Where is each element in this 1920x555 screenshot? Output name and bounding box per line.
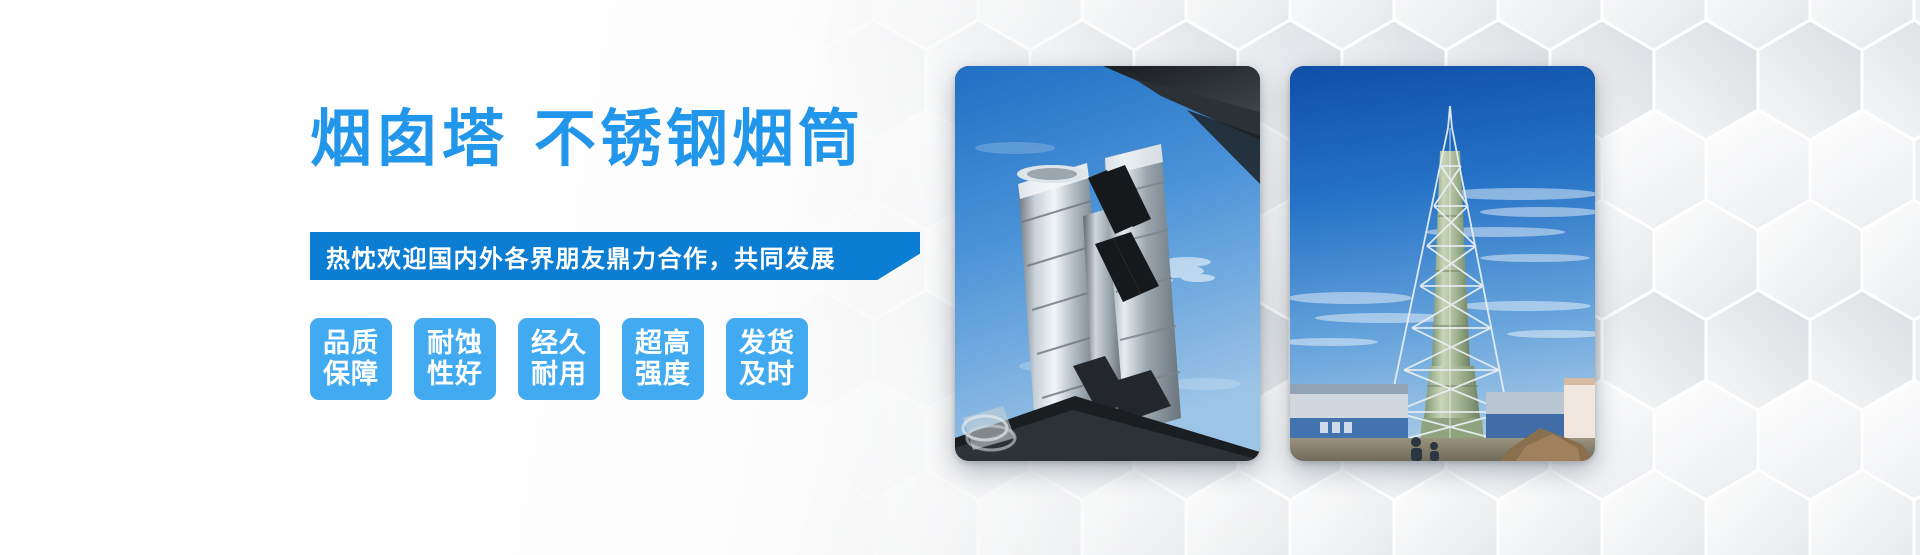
badge-line-1: 发货 [739,328,795,359]
badge-line-2: 保障 [323,359,379,390]
badge-line-1: 品质 [323,328,379,359]
headline-part-1: 烟囱塔 [310,102,508,175]
feature-badge-fast-delivery[interactable]: 发货 及时 [726,318,808,400]
banner-copy: 烟囱塔不锈钢烟筒 热忱欢迎国内外各界朋友鼎力合作，共同发展 品质 保障 耐蚀 性… [0,0,980,555]
badge-line-1: 耐蚀 [427,328,483,359]
badge-line-2: 性好 [427,359,483,390]
product-photo-stainless-steel-chimney[interactable] [955,66,1260,461]
feature-badge-corrosion-resistance[interactable]: 耐蚀 性好 [414,318,496,400]
badge-line-1: 超高 [635,328,691,359]
promo-banner: 烟囱塔不锈钢烟筒 热忱欢迎国内外各界朋友鼎力合作，共同发展 品质 保障 耐蚀 性… [0,0,1920,555]
product-photo-gallery [955,0,1655,555]
badge-line-1: 经久 [531,328,587,359]
product-photo-lattice-tower-chimney[interactable] [1290,66,1595,461]
tagline-text: 热忱欢迎国内外各界朋友鼎力合作，共同发展 [326,239,836,274]
tagline-ribbon: 热忱欢迎国内外各界朋友鼎力合作，共同发展 [310,232,920,280]
badge-line-2: 耐用 [531,359,587,390]
feature-badge-list: 品质 保障 耐蚀 性好 经久 耐用 超高 强度 发货 及时 [310,318,808,400]
page-title: 烟囱塔不锈钢烟筒 [310,108,864,170]
badge-line-2: 强度 [635,359,691,390]
feature-badge-durability[interactable]: 经久 耐用 [518,318,600,400]
badge-line-2: 及时 [739,359,795,390]
headline-part-2: 不锈钢烟筒 [534,102,864,175]
feature-badge-high-strength[interactable]: 超高 强度 [622,318,704,400]
feature-badge-quality[interactable]: 品质 保障 [310,318,392,400]
